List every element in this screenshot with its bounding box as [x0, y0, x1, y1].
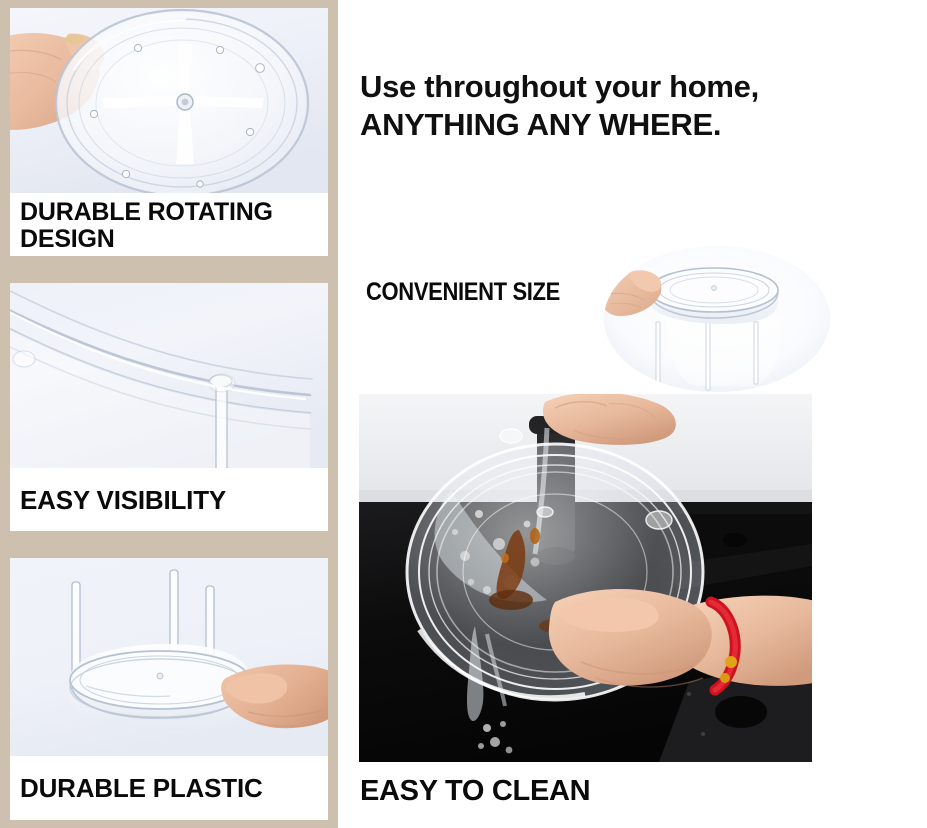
clear-rim-closeup-icon — [10, 283, 328, 468]
panel-2-caption-bar: EASY VISIBILITY — [10, 468, 328, 531]
convenient-size-label: CONVENIENT SIZE — [366, 278, 560, 307]
panel-1-photo — [10, 8, 328, 193]
easy-to-clean-photo — [359, 394, 812, 762]
convenient-size-row: CONVENIENT SIZE — [338, 240, 927, 390]
infographic-canvas: DURABLE ROTATING DESIGN — [0, 0, 927, 828]
feature-panel-easy-visibility: EASY VISIBILITY — [10, 283, 328, 531]
hands-rinsing-turntable-icon — [359, 394, 812, 762]
panel-3-photo — [10, 558, 328, 756]
left-panel-column: DURABLE ROTATING DESIGN — [0, 0, 338, 828]
panel-3-caption: DURABLE PLASTIC — [20, 775, 263, 803]
panel-3-caption-bar: DURABLE PLASTIC — [10, 756, 328, 820]
turntable-top-view-icon — [10, 8, 328, 193]
hand-holding-turntable-icon — [604, 246, 830, 392]
convenient-size-photo — [604, 246, 830, 392]
page-headline: Use throughout your home, ANYTHING ANY W… — [360, 68, 900, 144]
turntable-with-rods-icon — [10, 558, 328, 756]
right-content-column: Use throughout your home, ANYTHING ANY W… — [338, 0, 927, 828]
panel-1-caption: DURABLE ROTATING DESIGN — [20, 199, 273, 252]
panel-2-photo — [10, 283, 328, 468]
feature-panel-durable-rotating-design: DURABLE ROTATING DESIGN — [10, 8, 328, 256]
panel-1-caption-bar: DURABLE ROTATING DESIGN — [10, 193, 328, 256]
easy-to-clean-label: EASY TO CLEAN — [360, 775, 590, 808]
panel-2-caption: EASY VISIBILITY — [20, 487, 226, 515]
feature-panel-durable-plastic: DURABLE PLASTIC — [10, 558, 328, 820]
